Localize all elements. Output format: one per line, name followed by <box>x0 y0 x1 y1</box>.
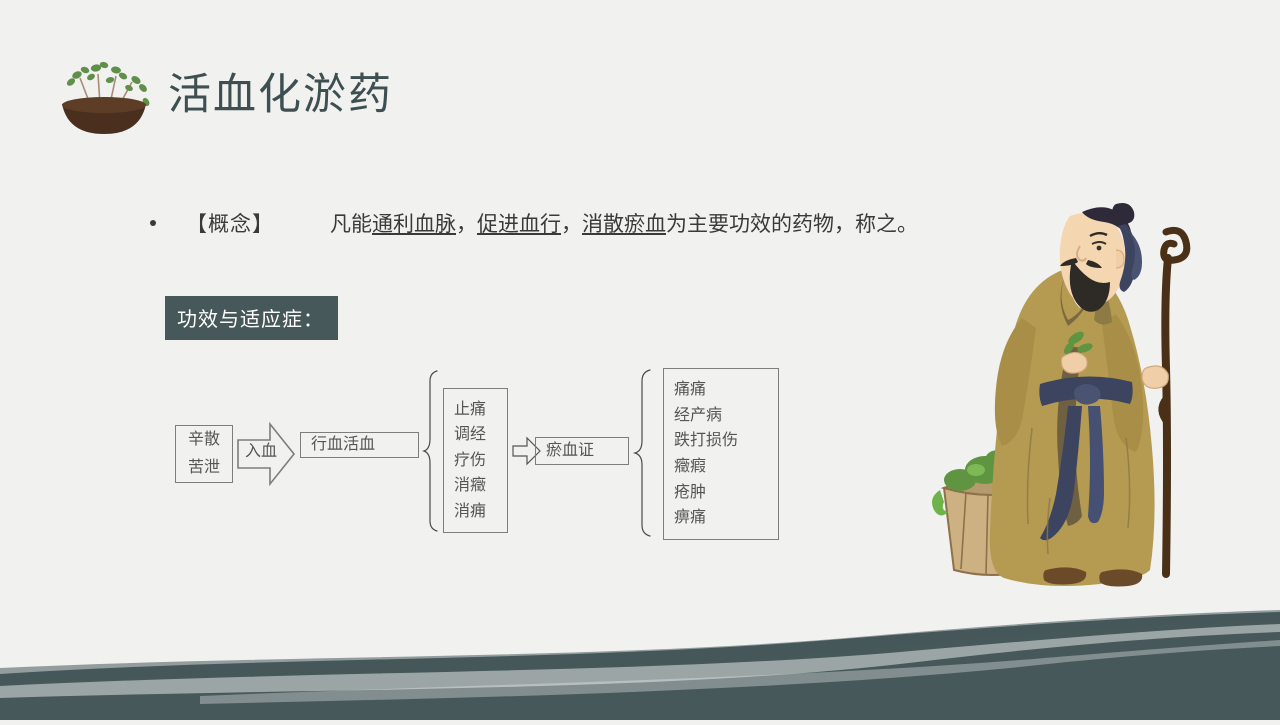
diagram-box-symptoms: 痛痛 经产病 跌打损伤 癥瘕 疮肿 痹痛 <box>663 368 779 540</box>
herb-bowl-icon <box>50 52 158 138</box>
symptom-line-3: 癥瘕 <box>664 454 778 480</box>
effect-line-0: 止痛 <box>444 397 507 423</box>
concept-part-2: ， <box>456 213 477 236</box>
staff-icon <box>1161 230 1186 574</box>
concept-part-4: ， <box>561 213 582 236</box>
action-line-0: 行血活血 <box>301 431 418 459</box>
concept-part-3: 促进血行 <box>477 213 561 236</box>
diagram-box-nature: 辛散 苦泄 <box>175 425 233 483</box>
symptom-line-1: 经产病 <box>664 403 778 429</box>
nature-line-0: 辛散 <box>176 426 232 454</box>
concept-part-6: 为主要功效的药物，称之。 <box>666 213 918 236</box>
effect-line-4: 消痈 <box>444 499 507 525</box>
bottom-brush-wave <box>0 610 1280 720</box>
concept-part-1: 通利血脉 <box>372 213 456 236</box>
concept-bullet-line: 【概念】 凡能通利血脉，促进血行，消散瘀血为主要功效的药物，称之。 <box>150 208 918 238</box>
concept-label: 【概念】 <box>186 208 274 238</box>
head <box>1060 203 1142 312</box>
effect-line-1: 调经 <box>444 422 507 448</box>
page-title: 活血化淤药 <box>168 74 393 117</box>
symptom-line-2: 跌打损伤 <box>664 428 778 454</box>
effect-line-3: 消癥 <box>444 473 507 499</box>
section-header-efficacy: 功效与适应症： <box>165 296 338 340</box>
concept-part-5: 消散瘀血 <box>582 213 666 236</box>
diagram-box-effects: 止痛 调经 疗伤 消癥 消痈 <box>443 388 508 533</box>
slide-title-block: 活血化淤药 <box>50 52 393 138</box>
arrow-to-syndrome-icon <box>513 438 540 464</box>
chinese-herbalist-illustration <box>930 198 1220 598</box>
brace-effects-icon <box>424 371 437 531</box>
arrow-enter-blood-icon <box>238 424 294 484</box>
diagram-box-action: 行血活血 <box>300 432 419 458</box>
syndrome-line-0: 瘀血证 <box>536 437 628 465</box>
concept-part-0: 凡能 <box>330 213 372 236</box>
robe <box>990 268 1155 586</box>
arrow-label-enter-blood: 入血 <box>245 437 277 461</box>
concept-text: 凡能通利血脉，促进血行，消散瘀血为主要功效的药物，称之。 <box>330 208 918 238</box>
bullet-dot-icon <box>150 220 156 226</box>
diagram-box-syndrome: 瘀血证 <box>535 437 629 465</box>
symptom-line-0: 痛痛 <box>664 377 778 403</box>
slide-canvas: 活血化淤药 【概念】 凡能通利血脉，促进血行，消散瘀血为主要功效的药物，称之。 … <box>0 0 1280 720</box>
effect-line-2: 疗伤 <box>444 448 507 474</box>
brace-symptoms-icon <box>635 370 650 536</box>
symptom-line-4: 疮肿 <box>664 480 778 506</box>
symptom-line-5: 痹痛 <box>664 505 778 531</box>
nature-line-1: 苦泄 <box>176 454 232 482</box>
